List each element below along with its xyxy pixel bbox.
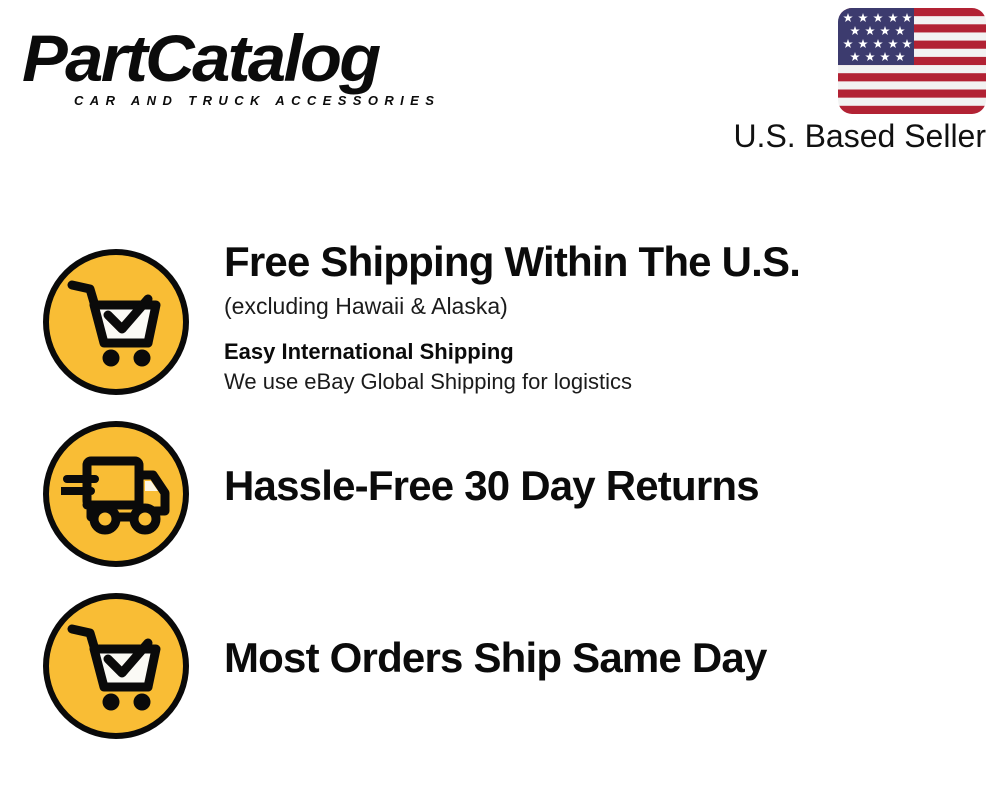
- feature-headline: Hassle-Free 30 Day Returns: [224, 462, 1000, 510]
- feature-headline: Free Shipping Within The U.S.: [224, 238, 1000, 286]
- us-flag-icon: [838, 8, 986, 114]
- shopping-cart-check-icon: [43, 249, 189, 395]
- feature-row-free-shipping: Free Shipping Within The U.S. (excluding…: [0, 236, 1000, 408]
- brand-tagline: CAR AND TRUCK ACCESSORIES: [74, 93, 440, 108]
- delivery-truck-icon: [43, 421, 189, 567]
- feature-subhead-bold: Easy International Shipping: [224, 338, 1000, 366]
- feature-text-same-day-ship: Most Orders Ship Same Day: [189, 580, 1000, 682]
- feature-headline: Most Orders Ship Same Day: [224, 634, 1000, 682]
- promo-banner: PartCatalog CAR AND TRUCK ACCESSORIES: [0, 0, 1000, 800]
- brand-logo: PartCatalog CAR AND TRUCK ACCESSORIES: [22, 22, 492, 112]
- feature-subline: (excluding Hawaii & Alaska): [224, 291, 1000, 321]
- us-based-seller-label: U.S. Based Seller: [706, 118, 986, 154]
- feature-text-free-shipping: Free Shipping Within The U.S. (excluding…: [189, 236, 1000, 396]
- brand-wordmark: PartCatalog: [22, 22, 511, 94]
- feature-row-returns: Hassle-Free 30 Day Returns: [0, 408, 1000, 580]
- feature-subhead-note: We use eBay Global Shipping for logistic…: [224, 368, 1000, 396]
- shopping-cart-check-icon: [43, 593, 189, 739]
- us-based-seller-badge: U.S. Based Seller: [706, 8, 986, 154]
- feature-list: Free Shipping Within The U.S. (excluding…: [0, 236, 1000, 740]
- feature-text-returns: Hassle-Free 30 Day Returns: [189, 408, 1000, 510]
- feature-row-same-day-ship: Most Orders Ship Same Day: [0, 580, 1000, 740]
